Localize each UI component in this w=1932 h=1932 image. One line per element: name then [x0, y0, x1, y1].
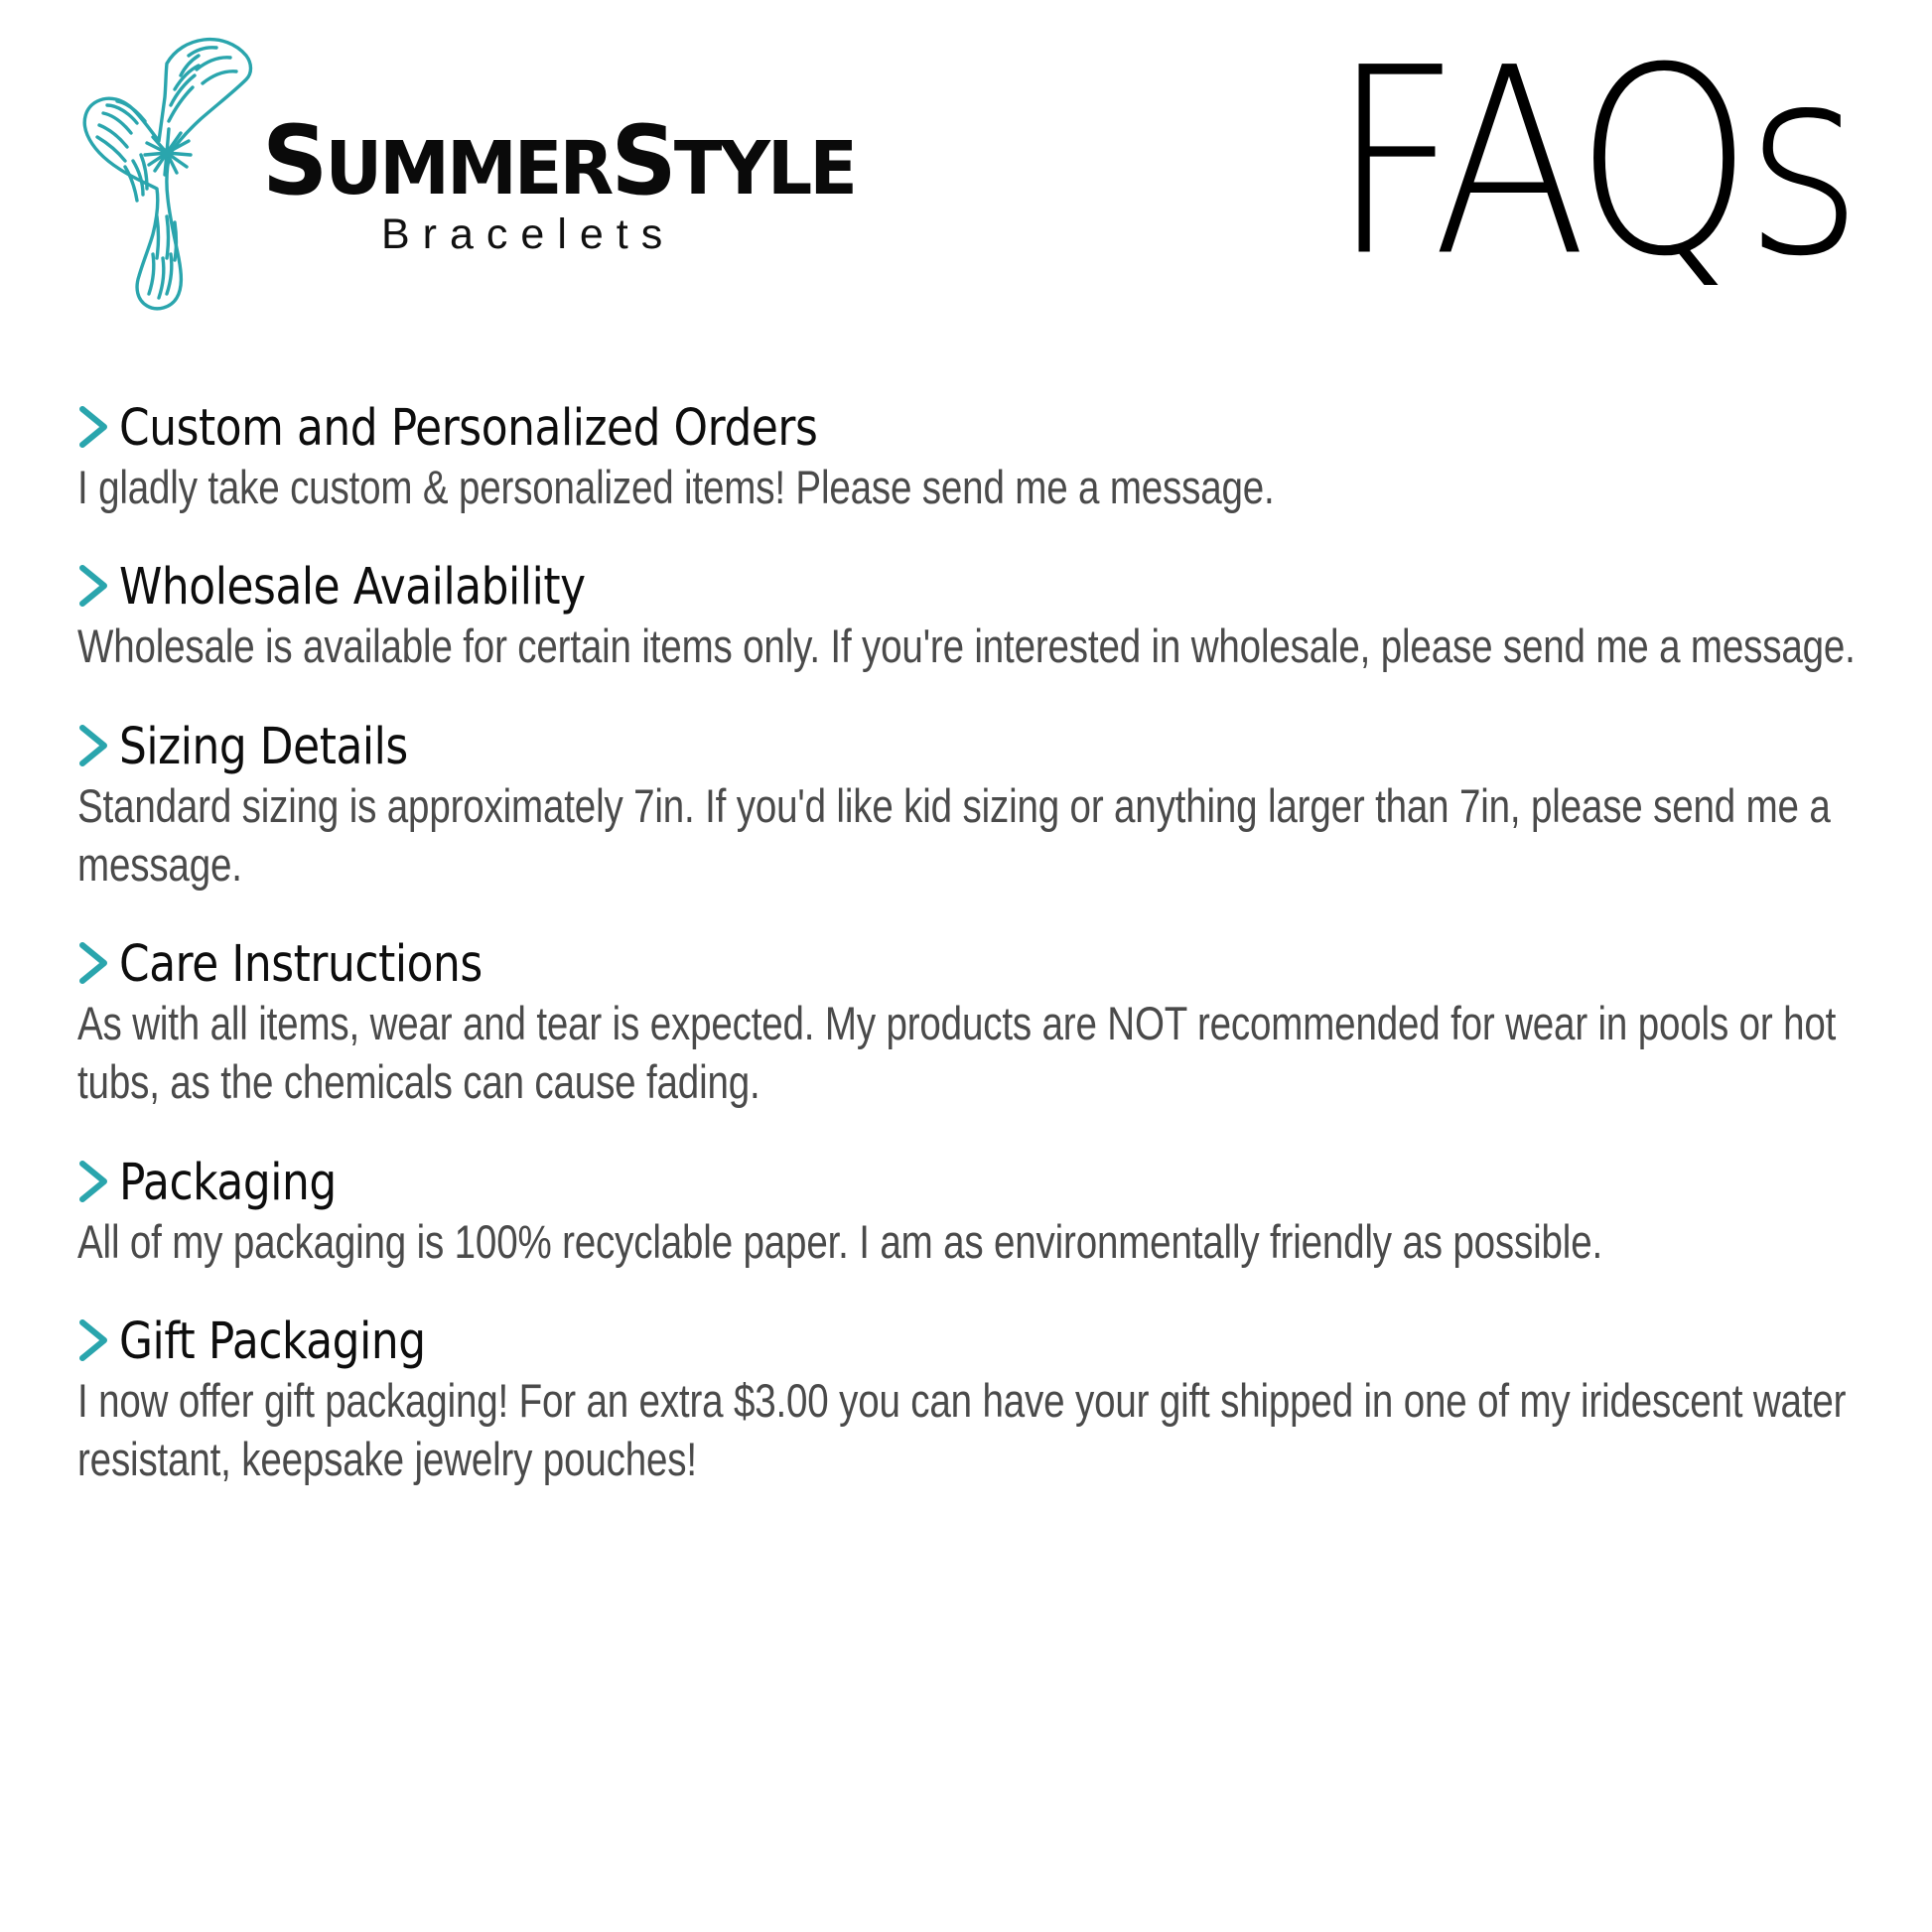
page-title: FAQs: [1330, 34, 1855, 292]
brand-text-block: SUMMERSTYLE Bracelets: [262, 117, 880, 259]
faq-body-text: I gladly take custom & personalized item…: [77, 458, 1863, 516]
faq-body-text: I now offer gift packaging! For an extra…: [77, 1371, 1863, 1488]
faq-heading-label: Packaging: [119, 1156, 337, 1210]
chevron-right-icon: [77, 1318, 111, 1362]
faq-body-text: All of my packaging is 100% recyclable p…: [77, 1212, 1863, 1271]
faq-heading-label: Custom and Personalized Orders: [119, 401, 817, 456]
brand-lockup: SUMMERSTYLE Bracelets: [71, 22, 880, 316]
faq-item-wholesale: Wholesale Availability Wholesale is avai…: [77, 560, 1863, 675]
chevron-right-icon: [77, 941, 111, 985]
faq-heading-label: Sizing Details: [119, 720, 408, 774]
faq-list: Custom and Personalized Orders I gladly …: [77, 401, 1863, 1488]
faq-heading-label: Wholesale Availability: [119, 560, 586, 615]
faq-page: SUMMERSTYLE Bracelets FAQs Custom and Pe…: [0, 0, 1932, 1932]
wordmark-tyle: TYLE: [674, 126, 855, 211]
faq-body-text: As with all items, wear and tear is expe…: [77, 994, 1863, 1111]
faq-item-gift-packaging: Gift Packaging I now offer gift packagin…: [77, 1314, 1863, 1489]
faq-heading: Sizing Details: [77, 720, 1863, 774]
brand-subtitle: Bracelets: [381, 210, 880, 259]
wordmark-ummer: UMMER: [325, 126, 611, 211]
wordmark-s2: S: [611, 105, 673, 216]
faq-item-care: Care Instructions As with all items, wea…: [77, 937, 1863, 1112]
brand-wordmark: SUMMERSTYLE: [262, 117, 855, 205]
chevron-right-icon: [77, 405, 111, 449]
faq-heading: Packaging: [77, 1156, 1863, 1210]
faq-heading: Gift Packaging: [77, 1314, 1863, 1369]
faq-heading: Care Instructions: [77, 937, 1863, 992]
starfish-icon: [71, 28, 256, 316]
chevron-right-icon: [77, 724, 111, 767]
page-header: SUMMERSTYLE Bracelets FAQs: [0, 0, 1932, 328]
faq-heading-label: Care Instructions: [119, 937, 483, 992]
faq-item-packaging: Packaging All of my packaging is 100% re…: [77, 1156, 1863, 1271]
faq-heading-label: Gift Packaging: [119, 1314, 426, 1369]
faq-item-sizing: Sizing Details Standard sizing is approx…: [77, 720, 1863, 895]
faq-heading: Wholesale Availability: [77, 560, 1863, 615]
faq-body-text: Standard sizing is approximately 7in. If…: [77, 776, 1863, 894]
chevron-right-icon: [77, 1160, 111, 1203]
faq-body-text: Wholesale is available for certain items…: [77, 617, 1863, 675]
faq-item-custom-orders: Custom and Personalized Orders I gladly …: [77, 401, 1863, 516]
chevron-right-icon: [77, 564, 111, 608]
wordmark-s1: S: [262, 105, 325, 216]
faq-heading: Custom and Personalized Orders: [77, 401, 1863, 456]
